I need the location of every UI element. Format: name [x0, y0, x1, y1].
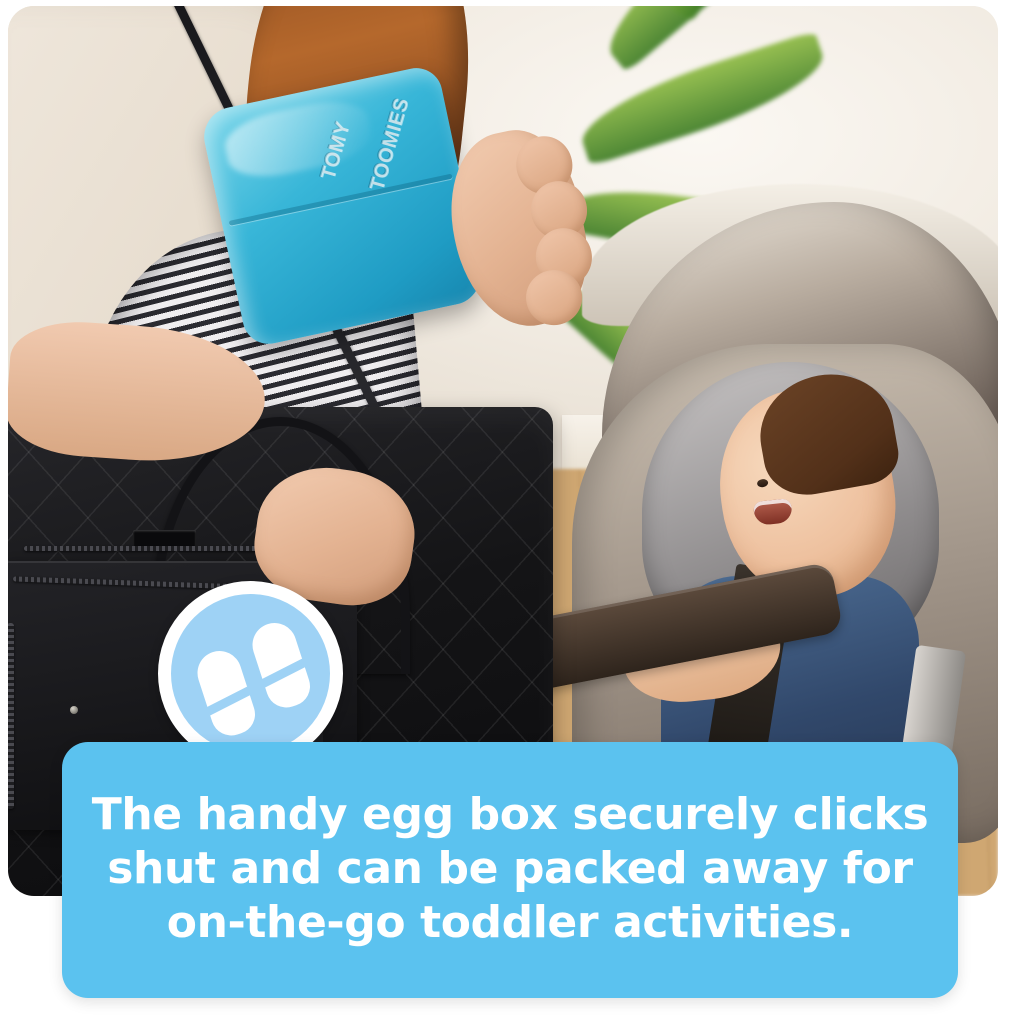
marketing-image-canvas: TOMY TOOMIES The handy egg box securely …: [0, 0, 1014, 1024]
egg-box-seam: [229, 173, 453, 225]
caption-text: The handy egg box securely clicks shut a…: [62, 788, 958, 950]
footprint-icon-right: [247, 617, 315, 712]
caption-banner: The handy egg box securely clicks shut a…: [62, 742, 958, 998]
tomy-toomies-egg-box: TOMY TOOMIES: [199, 64, 486, 349]
bag-zipper-side: [8, 623, 14, 809]
caption-line-2: shut and can be packed away for: [84, 842, 936, 896]
egg-box-highlight: [220, 94, 375, 185]
footprint-icon-left: [192, 645, 260, 740]
brand-emboss-toomies: TOOMIES: [366, 95, 414, 193]
on-the-go-badge: [158, 581, 343, 766]
caption-line-1: The handy egg box securely clicks: [84, 788, 936, 842]
baby-eye-left: [756, 478, 768, 487]
bag-brand-label: [133, 530, 196, 547]
bag-rivet-left: [70, 706, 78, 714]
caption-line-3: on-the-go toddler activities.: [84, 896, 936, 950]
